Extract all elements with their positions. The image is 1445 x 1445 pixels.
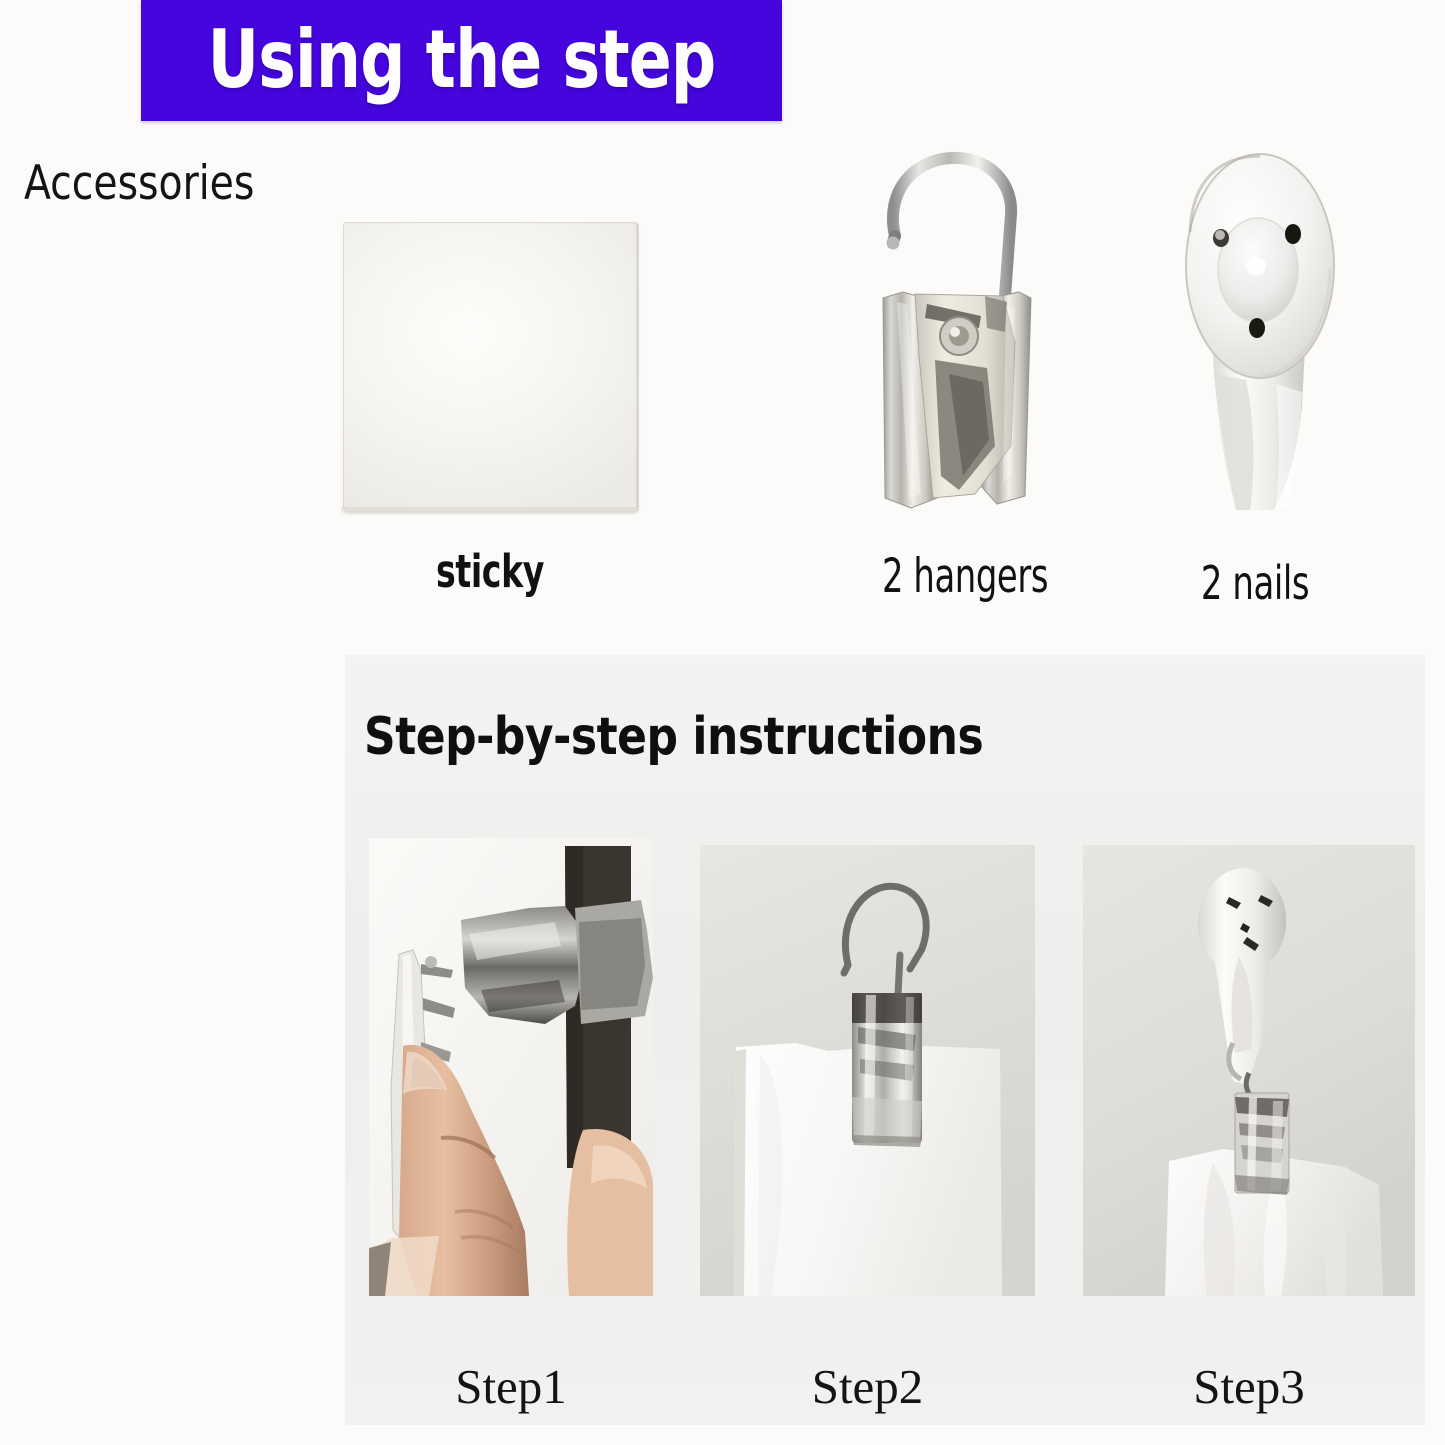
- step-label-1: Step1: [369, 1358, 653, 1416]
- accessory-label-sticky: sticky: [369, 545, 610, 598]
- accessory-label-nails: 2 nails: [1153, 556, 1358, 610]
- step-label-3: Step3: [1083, 1358, 1415, 1416]
- title-banner: Using the step: [141, 0, 782, 121]
- page-title: Using the step: [179, 6, 743, 114]
- press-hook-onto-wall-photo: [369, 838, 653, 1296]
- sticky-pad-icon: [343, 222, 639, 512]
- instructions-heading: Step-by-step instructions: [364, 706, 983, 768]
- hanger-clip-icon: [855, 146, 1070, 516]
- clip-gripping-curtain-photo: [700, 845, 1035, 1296]
- step-label-2: Step2: [700, 1358, 1035, 1416]
- nail-hook-icon: [1180, 148, 1345, 520]
- accessories-heading: Accessories: [24, 156, 254, 212]
- accessory-label-hangers: 2 hangers: [849, 549, 1081, 604]
- product-instruction-graphic: Using the step Accessories: [0, 0, 1445, 1445]
- curtain-hung-on-wall-hook-photo: [1083, 845, 1415, 1296]
